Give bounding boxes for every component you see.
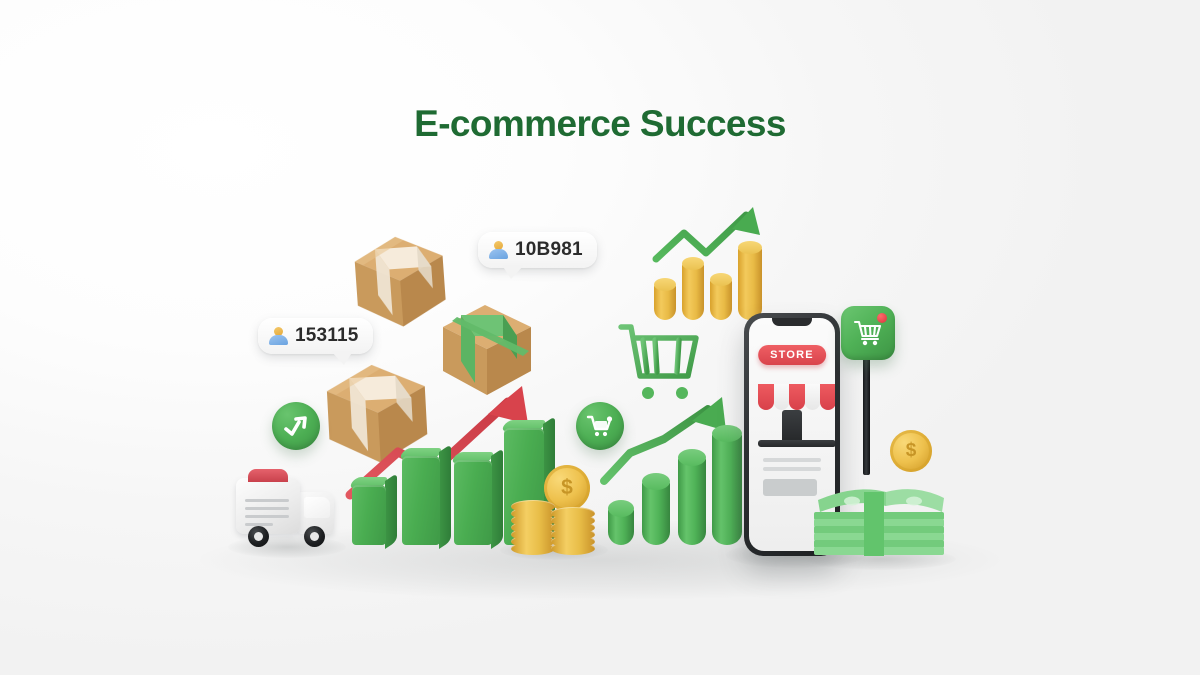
floating-coin: $ [890, 430, 932, 472]
truck-wheel-rear [248, 526, 269, 547]
visitor-count-bubble-1[interactable]: 10B981 [478, 232, 597, 268]
store-label: STORE [758, 345, 826, 365]
visitor-count-value: 153115 [295, 325, 359, 347]
truck-detail-line [245, 499, 289, 502]
visitor-count-value: 10B981 [515, 239, 583, 261]
cyl-bar-4 [712, 425, 742, 545]
illustration-canvas: E-commerce Success [0, 0, 1200, 675]
cyl-bar-2 [642, 473, 670, 545]
mini-bar-1 [654, 278, 676, 320]
store-counter [758, 440, 835, 447]
truck-window [304, 497, 330, 518]
truck-handle [248, 469, 288, 482]
store-door [782, 410, 802, 442]
trend-badge[interactable] [272, 402, 320, 450]
store-sign[interactable] [841, 306, 895, 360]
mini-bar-3 [710, 273, 732, 320]
mini-statistics-chart [650, 205, 780, 320]
cyl-bar-1 [608, 500, 634, 545]
person-icon [269, 327, 288, 346]
banknotes-icon [808, 470, 953, 562]
money-stack [808, 470, 953, 560]
coin-stack-left [511, 500, 555, 555]
person-icon [489, 241, 508, 260]
delivery-truck [236, 466, 338, 556]
truck-detail-line [245, 507, 289, 510]
visitor-count-bubble-2[interactable]: 153115 [258, 318, 373, 354]
page-title: E-commerce Success [0, 103, 1200, 145]
truck-wheel-front [304, 526, 325, 547]
truck-detail-line [245, 515, 289, 518]
cyl-bar-3 [678, 449, 706, 545]
notification-dot [877, 313, 887, 323]
bar-3 [454, 460, 492, 545]
store-awning [758, 384, 835, 410]
phone-notch [772, 318, 812, 326]
mini-bar-2 [682, 257, 704, 320]
shopping-cart-icon [853, 319, 883, 347]
bar-1 [352, 485, 386, 545]
parcel-box-top [347, 232, 443, 324]
bar-2 [402, 456, 440, 545]
secondary-growth-chart [600, 395, 735, 545]
mini-bar-4 [738, 241, 762, 320]
content-line [763, 458, 821, 462]
coin-stack-right [551, 505, 595, 555]
sign-pole [863, 345, 870, 475]
trending-up-icon [282, 412, 310, 440]
bubble-tail [502, 265, 524, 279]
bubble-tail [331, 351, 353, 365]
